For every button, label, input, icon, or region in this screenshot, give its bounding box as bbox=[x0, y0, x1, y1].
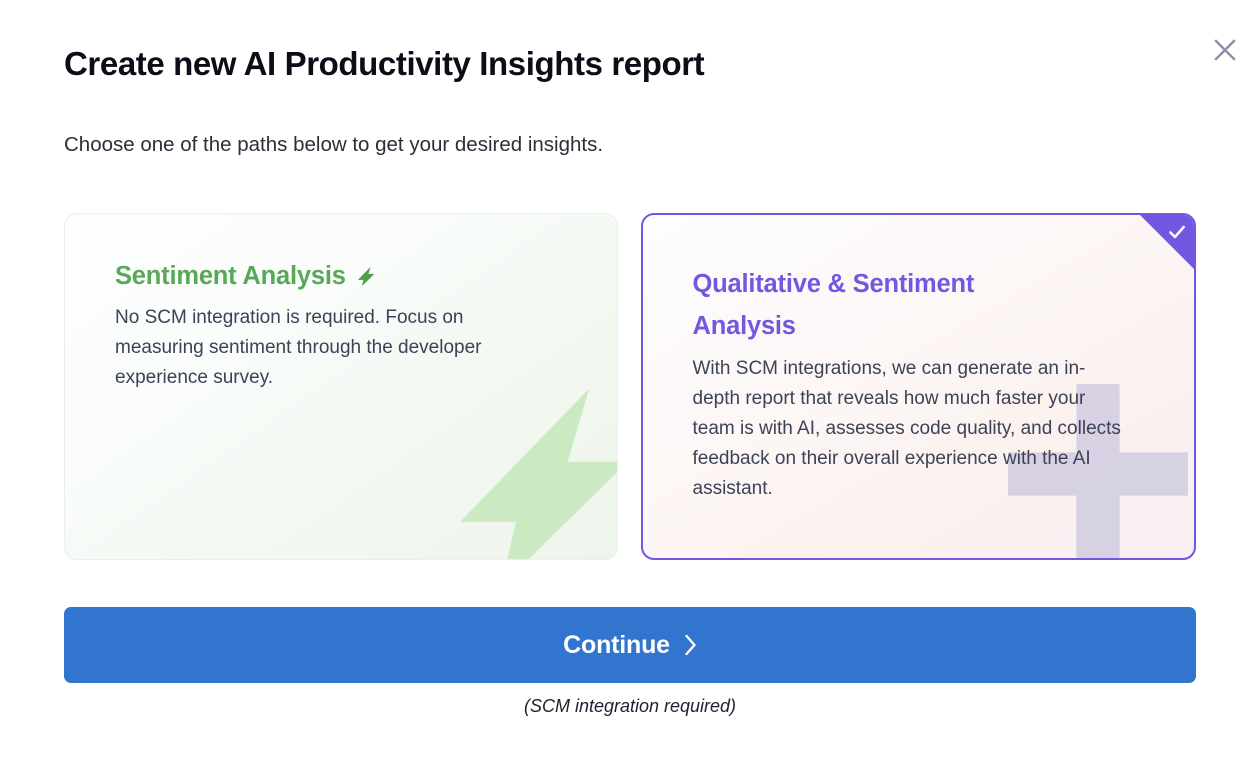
check-icon bbox=[1167, 222, 1187, 242]
continue-button-label: Continue bbox=[563, 631, 670, 660]
card-description: With SCM integrations, we can generate a… bbox=[693, 354, 1133, 504]
page-title: Create new AI Productivity Insights repo… bbox=[64, 45, 704, 83]
lightning-bolt-icon bbox=[430, 380, 618, 560]
close-icon-glyph bbox=[1212, 37, 1238, 63]
create-report-dialog: Create new AI Productivity Insights repo… bbox=[0, 0, 1260, 784]
chevron-right-icon bbox=[684, 634, 697, 656]
selected-corner-ribbon bbox=[1138, 213, 1196, 271]
card-title: Qualitative & Sentiment Analysis bbox=[693, 263, 1053, 347]
continue-button[interactable]: Continue bbox=[64, 607, 1196, 683]
card-title: Sentiment Analysis bbox=[115, 262, 577, 291]
card-title-text: Sentiment Analysis bbox=[115, 262, 346, 291]
card-description: No SCM integration is required. Focus on… bbox=[115, 303, 525, 393]
card-sentiment-analysis[interactable]: Sentiment Analysis No SCM integration is… bbox=[64, 213, 618, 560]
card-qualitative-sentiment-analysis[interactable]: Qualitative & Sentiment Analysis With SC… bbox=[641, 213, 1197, 560]
close-icon[interactable] bbox=[1209, 34, 1241, 66]
page-subtitle: Choose one of the paths below to get you… bbox=[64, 133, 603, 157]
path-options: Sentiment Analysis No SCM integration is… bbox=[64, 213, 1196, 560]
lightning-bolt-icon bbox=[355, 264, 376, 289]
scm-requirement-note: (SCM integration required) bbox=[0, 696, 1260, 717]
